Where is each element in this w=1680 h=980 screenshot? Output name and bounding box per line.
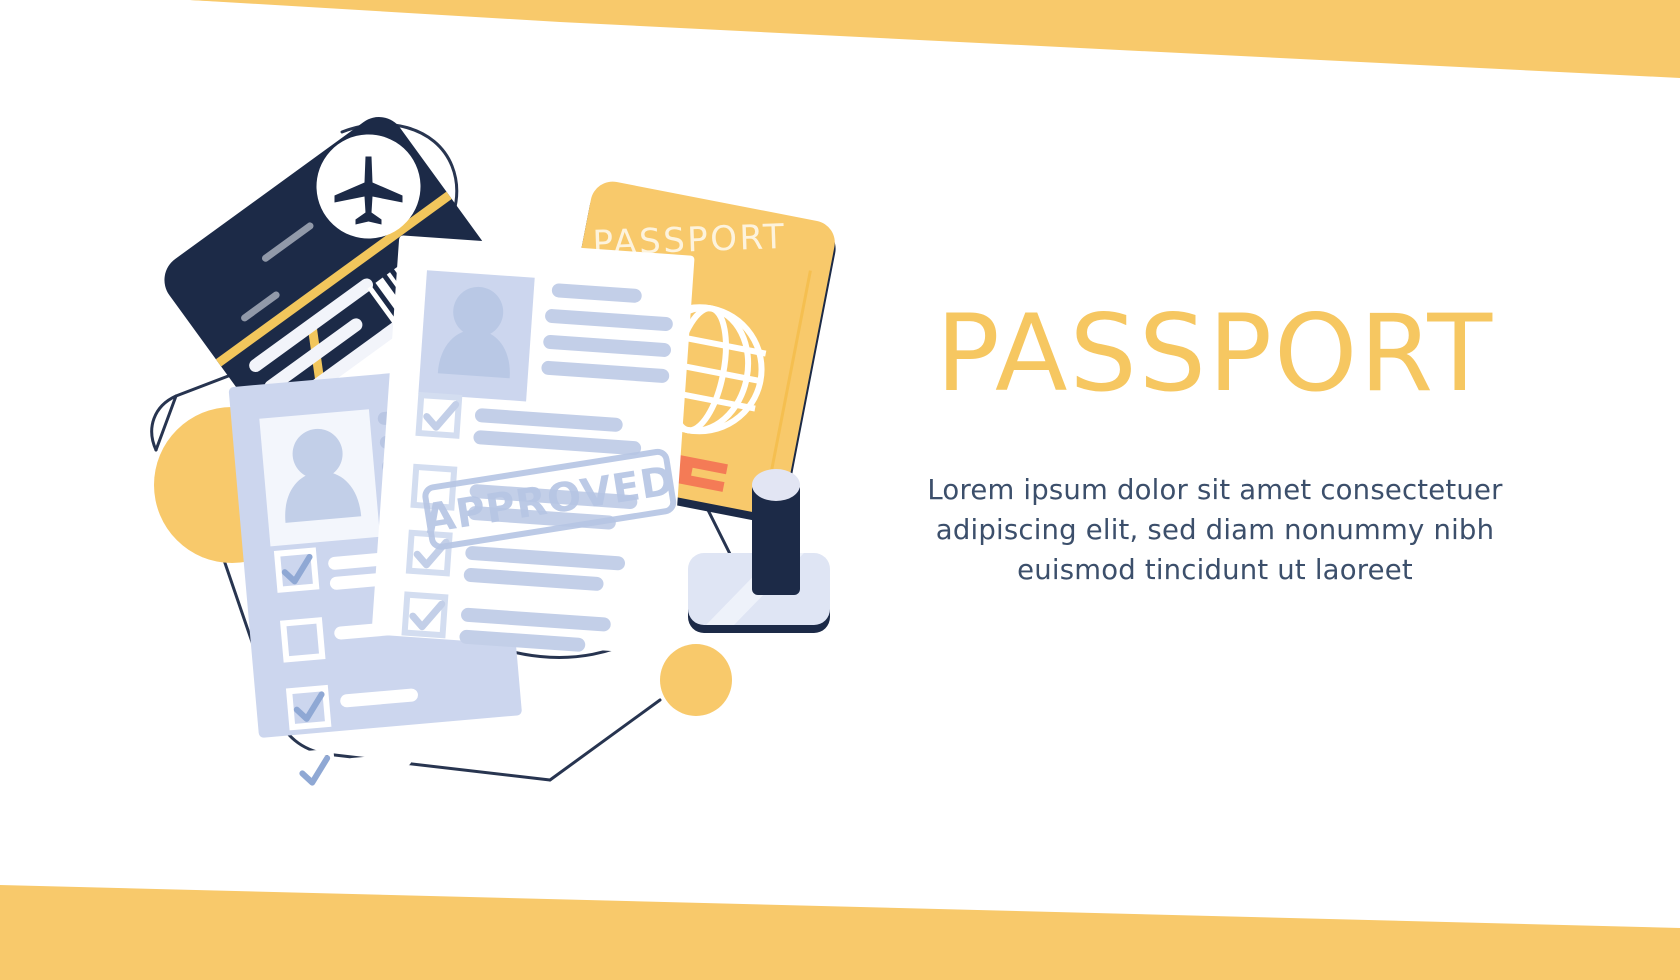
page-title: PASSPORT <box>905 300 1525 408</box>
page-description: Lorem ipsum dolor sit amet consectetuer … <box>905 470 1525 590</box>
stamp-knob <box>752 469 800 501</box>
bottom-angled-band <box>0 800 1680 980</box>
decor-circle-small <box>660 644 732 716</box>
checklist-document-front: APPROVED <box>371 235 696 658</box>
passport-documents-illustration: PASSPORT <box>80 60 900 820</box>
poster-canvas: PASSPORT <box>0 0 1680 980</box>
text-column: PASSPORT Lorem ipsum dolor sit amet cons… <box>905 300 1525 591</box>
